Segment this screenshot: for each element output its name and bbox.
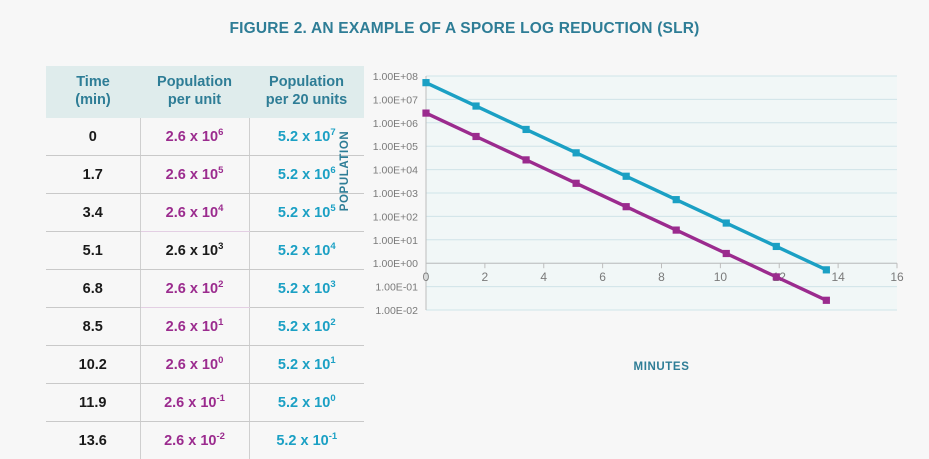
- cell-mantissa: 2.6 x 10: [166, 243, 218, 259]
- column-header-time-line2: (min): [52, 91, 134, 109]
- data-point-marker: [422, 109, 429, 116]
- y-axis-tick-label: 1.00E+02: [373, 211, 418, 223]
- page-title: FIGURE 2. AN EXAMPLE OF A SPORE LOG REDU…: [0, 20, 929, 38]
- x-axis-tick-label: 2: [482, 270, 489, 284]
- y-axis-title: POPULATION: [339, 131, 351, 212]
- column-header-population-per-unit-line2: per unit: [146, 91, 243, 109]
- data-point-marker: [522, 126, 529, 133]
- cell-population-per-unit: 2.6 x 10-2: [140, 422, 249, 459]
- column-header-time-line1: Time: [52, 73, 134, 91]
- cell-mantissa: 2.6 x 10: [164, 433, 216, 449]
- data-point-marker: [673, 226, 680, 233]
- cell-population-per-unit: 2.6 x 103: [140, 232, 249, 270]
- cell-exponent: 3: [218, 241, 223, 252]
- cell-mantissa: 2.6 x 10: [166, 319, 218, 335]
- data-point-marker: [472, 102, 479, 109]
- cell-mantissa: 5.2 x 10: [278, 205, 330, 221]
- data-point-marker: [623, 173, 630, 180]
- data-point-marker: [823, 266, 830, 273]
- y-axis-tick-labels: 1.00E+081.00E+071.00E+061.00E+051.00E+04…: [373, 71, 418, 317]
- data-point-marker: [522, 156, 529, 163]
- x-axis-tick-label: 16: [890, 270, 904, 284]
- cell-mantissa: 2.6 x 10: [166, 205, 218, 221]
- y-axis-tick-label: 1.00E+05: [373, 141, 418, 153]
- data-point-marker: [472, 133, 479, 140]
- cell-time: 8.5: [46, 308, 140, 346]
- cell-exponent: 0: [330, 393, 335, 404]
- column-header-population-per-unit: Population per unit: [140, 66, 249, 118]
- cell-time: 1.7: [46, 156, 140, 194]
- y-axis-tick-label: 1.00E+03: [373, 188, 418, 200]
- column-header-time: Time (min): [46, 66, 140, 118]
- cell-time: 3.4: [46, 194, 140, 232]
- cell-population-per-unit: 2.6 x 106: [140, 118, 249, 156]
- cell-time: 0: [46, 118, 140, 156]
- data-point-marker: [723, 250, 730, 257]
- data-point-marker: [673, 196, 680, 203]
- x-axis-tick-label: 0: [423, 270, 430, 284]
- table-row: 10.22.6 x 1005.2 x 101: [46, 346, 364, 384]
- table-row: 11.92.6 x 10-15.2 x 100: [46, 384, 364, 422]
- cell-exponent: -2: [216, 431, 224, 442]
- cell-mantissa: 2.6 x 10: [166, 357, 218, 373]
- spore-log-reduction-table: Time (min) Population per unit Populatio…: [46, 66, 364, 459]
- cell-mantissa: 5.2 x 10: [276, 433, 328, 449]
- cell-exponent: -1: [216, 393, 224, 404]
- cell-population-per-unit: 2.6 x 101: [140, 308, 249, 346]
- cell-exponent: 4: [218, 203, 223, 214]
- cell-exponent: -1: [329, 431, 337, 442]
- cell-mantissa: 2.6 x 10: [166, 167, 218, 183]
- cell-mantissa: 2.6 x 10: [166, 281, 218, 297]
- data-point-marker: [723, 219, 730, 226]
- x-axis-tick-label: 8: [658, 270, 665, 284]
- cell-exponent: 2: [218, 279, 223, 290]
- y-axis-tick-label: 1.00E-02: [375, 305, 418, 317]
- table-body: 02.6 x 1065.2 x 1071.72.6 x 1055.2 x 106…: [46, 118, 364, 459]
- data-point-marker: [823, 297, 830, 304]
- y-axis-tick-label: 1.00E+00: [373, 258, 418, 270]
- y-axis-tick-label: 1.00E+08: [373, 71, 418, 83]
- y-axis-tick-label: 1.00E+04: [373, 165, 418, 177]
- cell-exponent: 0: [218, 355, 223, 366]
- data-point-marker: [573, 180, 580, 187]
- cell-population-per-unit: 2.6 x 102: [140, 270, 249, 308]
- cell-time: 10.2: [46, 346, 140, 384]
- table-row: 6.82.6 x 1025.2 x 103: [46, 270, 364, 308]
- table-header: Time (min) Population per unit Populatio…: [46, 66, 364, 118]
- cell-mantissa: 5.2 x 10: [278, 129, 330, 145]
- cell-population-per-20-units: 5.2 x 10-1: [249, 422, 364, 459]
- data-point-marker: [422, 79, 429, 86]
- data-point-marker: [773, 243, 780, 250]
- cell-time: 5.1: [46, 232, 140, 270]
- table-row: 3.42.6 x 1045.2 x 105: [46, 194, 364, 232]
- cell-mantissa: 5.2 x 10: [278, 243, 330, 259]
- data-point-marker: [573, 149, 580, 156]
- x-axis-tick-label: 6: [599, 270, 606, 284]
- table-row: 13.62.6 x 10-25.2 x 10-1: [46, 422, 364, 459]
- x-axis-tick-label: 14: [831, 270, 845, 284]
- table-row: 5.12.6 x 1035.2 x 104: [46, 232, 364, 270]
- data-point-marker: [773, 273, 780, 280]
- cell-time: 11.9: [46, 384, 140, 422]
- cell-mantissa: 5.2 x 10: [278, 281, 330, 297]
- y-axis-tick-label: 1.00E+01: [373, 235, 418, 247]
- y-axis-tick-label: 1.00E-01: [375, 282, 418, 294]
- cell-time: 6.8: [46, 270, 140, 308]
- y-axis-tick-label: 1.00E+06: [373, 118, 418, 130]
- spore-log-reduction-chart: 1.00E+081.00E+071.00E+061.00E+051.00E+04…: [330, 62, 915, 392]
- table-row: 02.6 x 1065.2 x 107: [46, 118, 364, 156]
- cell-population-per-unit: 2.6 x 105: [140, 156, 249, 194]
- cell-mantissa: 5.2 x 10: [278, 167, 330, 183]
- cell-population-per-unit: 2.6 x 104: [140, 194, 249, 232]
- cell-time: 13.6: [46, 422, 140, 459]
- cell-mantissa: 5.2 x 10: [278, 395, 330, 411]
- table-row: 8.52.6 x 1015.2 x 102: [46, 308, 364, 346]
- cell-population-per-unit: 2.6 x 100: [140, 346, 249, 384]
- cell-mantissa: 2.6 x 10: [166, 129, 218, 145]
- table-header-row: Time (min) Population per unit Populatio…: [46, 66, 364, 118]
- y-axis-tick-label: 1.00E+07: [373, 94, 418, 106]
- cell-mantissa: 5.2 x 10: [278, 319, 330, 335]
- data-point-marker: [623, 203, 630, 210]
- cell-mantissa: 5.2 x 10: [278, 357, 330, 373]
- cell-mantissa: 2.6 x 10: [164, 395, 216, 411]
- cell-exponent: 6: [218, 127, 223, 138]
- x-axis-tick-label: 4: [540, 270, 547, 284]
- cell-exponent: 5: [218, 165, 223, 176]
- cell-exponent: 1: [218, 317, 223, 328]
- x-axis-title: MINUTES: [634, 361, 690, 373]
- x-axis-tick-label: 10: [714, 270, 728, 284]
- table-row: 1.72.6 x 1055.2 x 106: [46, 156, 364, 194]
- cell-population-per-unit: 2.6 x 10-1: [140, 384, 249, 422]
- column-header-population-per-unit-line1: Population: [146, 73, 243, 91]
